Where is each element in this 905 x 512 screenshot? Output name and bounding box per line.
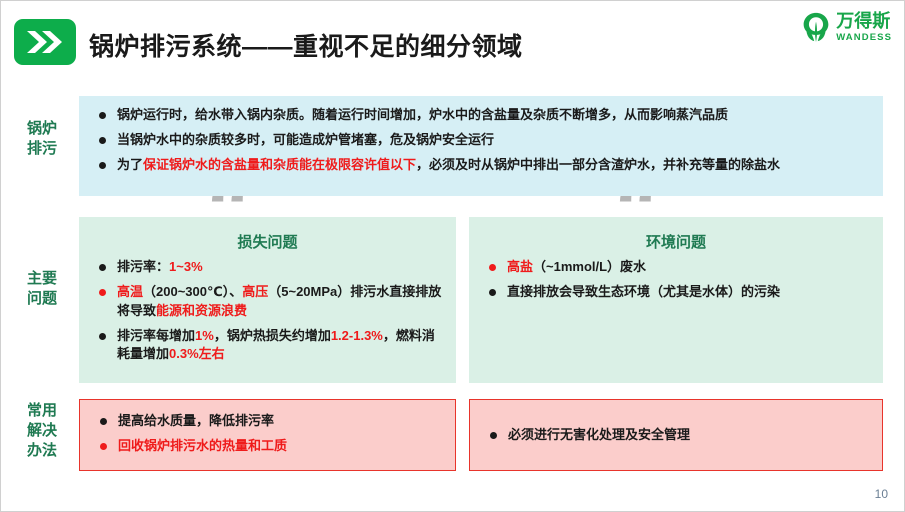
text-segment-highlight: 0.3%左右 <box>169 346 225 361</box>
bullet-list: 高盐（~1mmol/L）废水 直接排放会导致生态环境（尤其是水体）的污染 <box>483 258 869 302</box>
text-segment: ，必须及时从锅炉中排出一部分含渣炉水，并补充等量的除盐水 <box>416 157 780 172</box>
row-label-line: 解决 <box>9 421 75 441</box>
text-segment: ，锅炉热损失约增加 <box>214 328 331 343</box>
text-segment-highlight: 能源和资源浪费 <box>156 303 247 318</box>
row-label-line: 主要 <box>9 269 75 289</box>
bullet-list: 提高给水质量，降低排污率 回收锅炉排污水的热量和工质 <box>94 412 441 456</box>
bullet-list: 必须进行无害化处理及安全管理 <box>484 426 868 445</box>
row-label-common-solutions: 常用 解决 办法 <box>9 401 75 460</box>
text-segment: （~1mmol/L）废水 <box>533 259 646 274</box>
list-item: 提高给水质量，降低排污率 <box>94 412 441 431</box>
text-segment: 当锅炉水中的杂质较多时，可能造成炉管堵塞，危及锅炉安全运行 <box>117 132 494 147</box>
list-item: 回收锅炉排污水的热量和工质 <box>94 437 441 456</box>
logo-text-en: WANDESS <box>836 33 892 43</box>
text-segment: 提高给水质量，降低排污率 <box>118 413 274 428</box>
text-segment-highlight: 高温 <box>117 284 143 299</box>
row-label-line: 常用 <box>9 401 75 421</box>
list-item: 高盐（~1mmol/L）废水 <box>483 258 869 277</box>
row-label-line: 排污 <box>9 139 75 159</box>
loss-problem-box: 损失问题 排污率：1~3% 高温（200~300℃）、高压（5~20MPa）排污… <box>79 217 456 383</box>
text-segment: 排污率每增加 <box>117 328 195 343</box>
text-segment: 直接排放会导致生态环境（尤其是水体）的污染 <box>507 284 780 299</box>
double-chevron-right-icon <box>14 19 76 65</box>
slide-header: 锅炉排污系统——重视不足的细分领域 万得斯 WANDESS <box>1 1 905 83</box>
row-label-main-problems: 主要 问题 <box>9 269 75 309</box>
slide-canvas: 锅炉排污系统——重视不足的细分领域 万得斯 WANDESS “ “ 锅炉 排污 … <box>0 0 905 512</box>
text-segment: 锅炉运行时，给水带入锅内杂质。随着运行时间增加，炉水中的含盐量及杂质不断增多，从… <box>117 107 728 122</box>
text-segment-highlight: 高盐 <box>507 259 533 274</box>
company-logo: 万得斯 WANDESS <box>801 11 892 43</box>
logo-text-cn: 万得斯 <box>836 12 892 30</box>
bullet-list: 排污率：1~3% 高温（200~300℃）、高压（5~20MPa）排污水直接排放… <box>93 258 442 364</box>
row-label-line: 问题 <box>9 289 75 309</box>
row-label-line: 锅炉 <box>9 119 75 139</box>
bullet-list: 锅炉运行时，给水带入锅内杂质。随着运行时间增加，炉水中的含盐量及杂质不断增多，从… <box>93 106 869 175</box>
list-item: 排污率：1~3% <box>93 258 442 277</box>
text-segment-highlight: 高压 <box>242 284 268 299</box>
list-item: 为了保证锅炉水的含盐量和杂质能在极限容许值以下，必须及时从锅炉中排出一部分含渣炉… <box>93 156 869 175</box>
boiler-blowdown-box: 锅炉运行时，给水带入锅内杂质。随着运行时间增加，炉水中的含盐量及杂质不断增多，从… <box>79 96 883 196</box>
list-item: 锅炉运行时，给水带入锅内杂质。随着运行时间增加，炉水中的含盐量及杂质不断增多，从… <box>93 106 869 125</box>
text-segment: 排污率： <box>117 259 169 274</box>
list-item: 必须进行无害化处理及安全管理 <box>484 426 868 445</box>
text-segment-highlight: 1% <box>195 328 214 343</box>
environment-problem-box: 环境问题 高盐（~1mmol/L）废水 直接排放会导致生态环境（尤其是水体）的污… <box>469 217 883 383</box>
wandess-leaf-logo-icon <box>801 11 831 43</box>
row-label-line: 办法 <box>9 441 75 461</box>
row-label-boiler-blowdown: 锅炉 排污 <box>9 119 75 159</box>
text-segment-highlight: 保证锅炉水的含盐量和杂质能在极限容许值以下 <box>143 157 416 172</box>
list-item: 排污率每增加1%，锅炉热损失约增加1.2-1.3%，燃料消耗量增加0.3%左右 <box>93 327 442 365</box>
solutions-right-box: 必须进行无害化处理及安全管理 <box>469 399 883 471</box>
text-segment-highlight: 1.2-1.3% <box>331 328 383 343</box>
text-segment-highlight: 1~3% <box>169 259 203 274</box>
box-title: 损失问题 <box>93 231 442 252</box>
list-item: 直接排放会导致生态环境（尤其是水体）的污染 <box>483 283 869 302</box>
text-segment: （200~300℃）、 <box>143 284 242 299</box>
box-title: 环境问题 <box>483 231 869 252</box>
page-title: 锅炉排污系统——重视不足的细分领域 <box>89 27 523 63</box>
text-segment: 为了 <box>117 157 143 172</box>
list-item: 当锅炉水中的杂质较多时，可能造成炉管堵塞，危及锅炉安全运行 <box>93 131 869 150</box>
solutions-left-box: 提高给水质量，降低排污率 回收锅炉排污水的热量和工质 <box>79 399 456 471</box>
list-item: 高温（200~300℃）、高压（5~20MPa）排污水直接排放将导致能源和资源浪… <box>93 283 442 321</box>
text-segment-highlight: 回收锅炉排污水的热量和工质 <box>118 438 287 453</box>
text-segment: 必须进行无害化处理及安全管理 <box>508 427 690 442</box>
page-number: 10 <box>875 487 888 501</box>
